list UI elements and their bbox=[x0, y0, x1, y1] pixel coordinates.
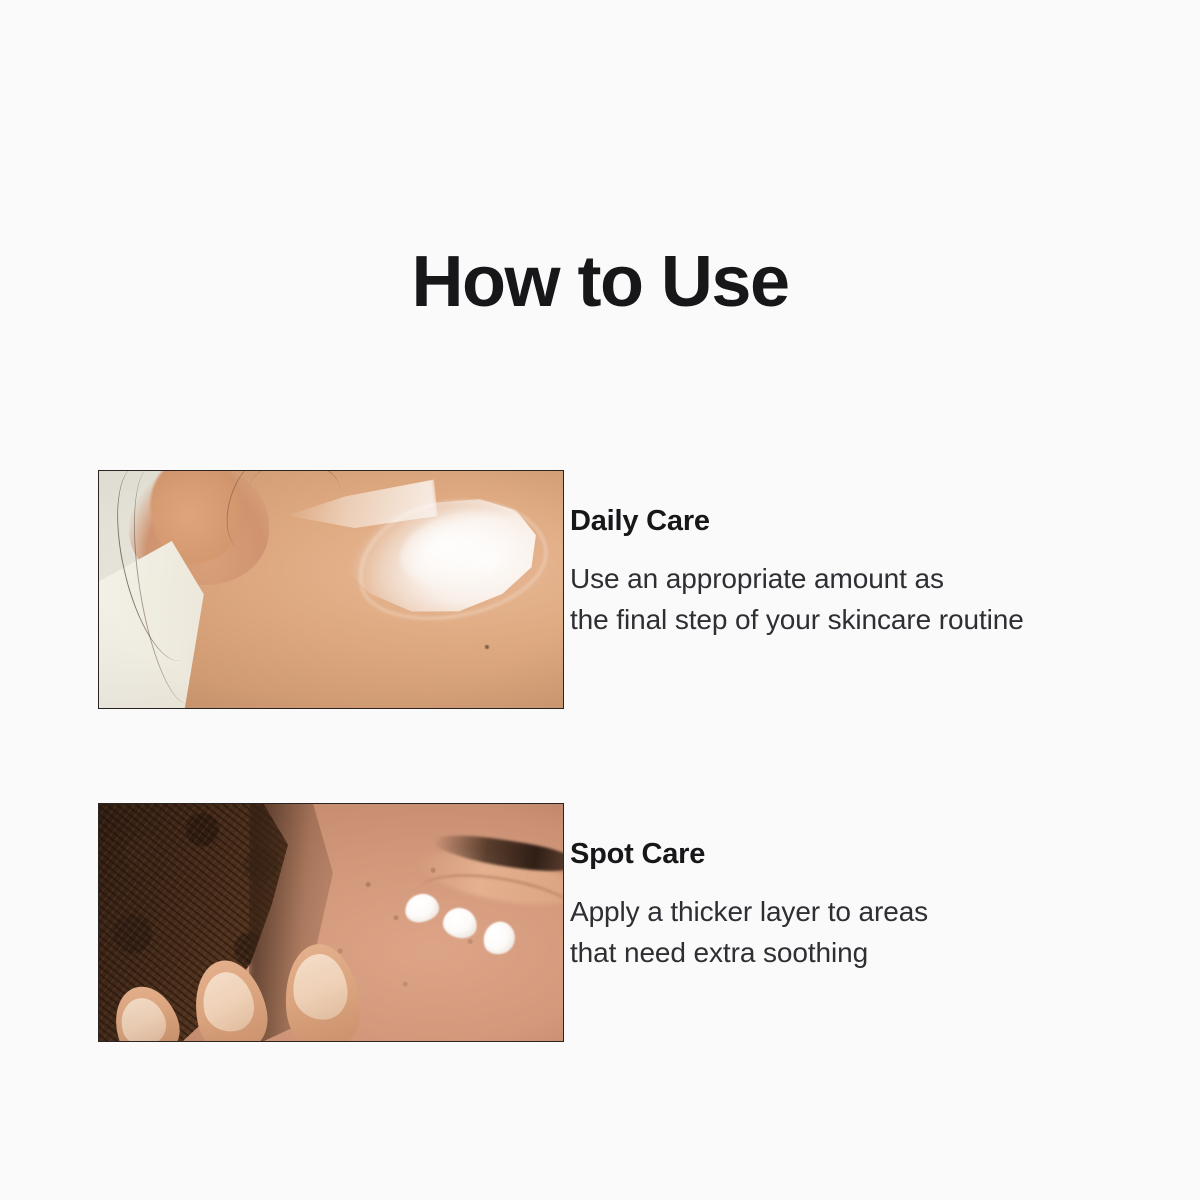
photo-vignette bbox=[99, 804, 563, 1041]
step-daily-care: Daily Care Use an appropriate amount as … bbox=[58, 454, 1158, 694]
spot-care-description: Apply a thicker layer to areas that need… bbox=[570, 871, 1158, 973]
description-line: that need extra soothing bbox=[570, 932, 1158, 973]
step-spot-care: Spot Care Apply a thicker layer to areas… bbox=[58, 787, 1158, 1027]
daily-care-photo bbox=[98, 470, 564, 709]
cream-dots-image bbox=[99, 804, 563, 1041]
page-title: How to Use bbox=[0, 246, 1200, 318]
daily-care-description: Use an appropriate amount as the final s… bbox=[570, 538, 1158, 640]
photo-vignette bbox=[99, 471, 563, 708]
daily-care-text-block: Daily Care Use an appropriate amount as … bbox=[570, 454, 1158, 640]
cream-smear-image bbox=[99, 471, 563, 708]
description-line: Apply a thicker layer to areas bbox=[570, 891, 1158, 932]
description-line: the final step of your skincare routine bbox=[570, 599, 1158, 640]
spot-care-heading: Spot Care bbox=[570, 787, 1158, 871]
daily-care-heading: Daily Care bbox=[570, 454, 1158, 538]
description-line: Use an appropriate amount as bbox=[570, 558, 1158, 599]
spot-care-photo bbox=[98, 803, 564, 1042]
how-to-use-page: How to Use Daily Care bbox=[0, 0, 1200, 1200]
spot-care-text-block: Spot Care Apply a thicker layer to areas… bbox=[570, 787, 1158, 973]
